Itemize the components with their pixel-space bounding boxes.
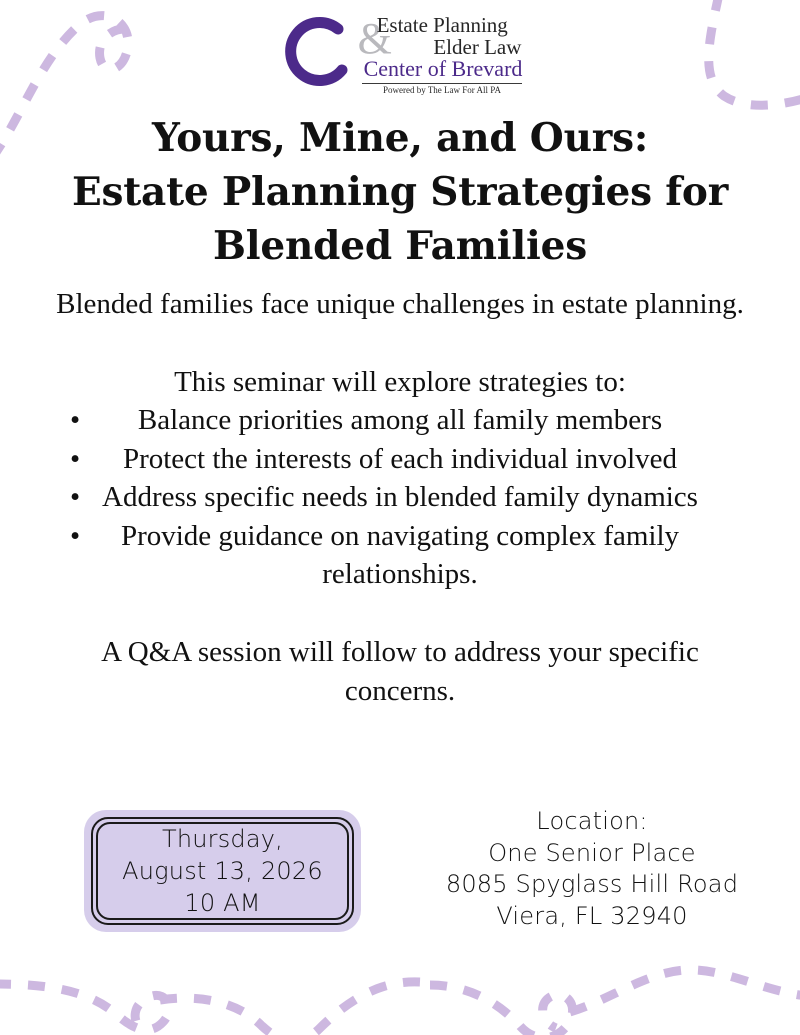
- event-date: August 13, 2026: [122, 855, 323, 887]
- title-line-3: Blended Families: [40, 220, 760, 274]
- title-line-1: Yours, Mine, and Ours:: [40, 112, 760, 166]
- logo-tagline: Powered by The Law For All PA: [362, 85, 523, 95]
- list-item-label: Balance priorities among all family memb…: [138, 404, 662, 436]
- logo-wordmark: & Estate Planning Elder Law Center of Br…: [360, 15, 523, 94]
- logo-line-center-of-brevard: Center of Brevard: [362, 58, 523, 80]
- location-city-state-zip: Viera, FL 32940: [420, 901, 764, 933]
- title-line-2: Estate Planning Strategies for: [40, 166, 760, 220]
- logo-circle-icon: [278, 14, 360, 96]
- badge-inner-border: Thursday, August 13, 2026 10 AM: [96, 822, 349, 920]
- location-label: Location:: [420, 806, 764, 838]
- list-item-label: Provide guidance on navigating complex f…: [121, 520, 679, 591]
- list-item: • Balance priorities among all family me…: [48, 401, 752, 440]
- paragraph-spacer: [48, 324, 752, 363]
- event-day: Thursday,: [162, 823, 283, 855]
- lead-in-paragraph: This seminar will explore strategies to:: [48, 363, 752, 402]
- list-item-label: Protect the interests of each individual…: [123, 443, 677, 475]
- bullet-icon: •: [70, 478, 80, 517]
- event-date-badge: Thursday, August 13, 2026 10 AM: [84, 810, 361, 932]
- list-item-label: Address specific needs in blended family…: [102, 481, 698, 513]
- logo-line-elder-law: Elder Law: [362, 37, 523, 58]
- strategies-list: • Balance priorities among all family me…: [48, 401, 752, 594]
- flyer-page: & Estate Planning Elder Law Center of Br…: [0, 0, 800, 1035]
- paragraph-spacer: [48, 594, 752, 633]
- decor-bottom-left: [0, 984, 169, 1030]
- event-location-block: Location: One Senior Place 8085 Spyglass…: [420, 806, 764, 933]
- decor-bottom-far-right: [570, 970, 800, 1012]
- body-copy: Blended families face unique challenges …: [48, 285, 752, 710]
- bullet-icon: •: [70, 440, 80, 479]
- bullet-icon: •: [70, 401, 80, 440]
- event-time: 10 AM: [184, 887, 260, 919]
- location-street: 8085 Spyglass Hill Road: [420, 869, 764, 901]
- intro-paragraph: Blended families face unique challenges …: [48, 285, 752, 324]
- decor-bottom-mid: [160, 982, 420, 1035]
- page-title: Yours, Mine, and Ours: Estate Planning S…: [40, 112, 760, 273]
- closing-paragraph: A Q&A session will follow to address you…: [48, 633, 752, 710]
- logo-divider: [362, 83, 523, 84]
- logo-line-estate-planning: Estate Planning: [362, 15, 523, 36]
- badge-outer-border: Thursday, August 13, 2026 10 AM: [91, 817, 354, 925]
- brand-logo: & Estate Planning Elder Law Center of Br…: [0, 14, 800, 96]
- bullet-icon: •: [70, 517, 80, 556]
- list-item: • Protect the interests of each individu…: [48, 440, 752, 479]
- location-venue: One Senior Place: [420, 838, 764, 870]
- list-item: • Address specific needs in blended fami…: [48, 478, 752, 517]
- decor-bottom-right-loop: [430, 985, 573, 1035]
- list-item: • Provide guidance on navigating complex…: [48, 517, 752, 594]
